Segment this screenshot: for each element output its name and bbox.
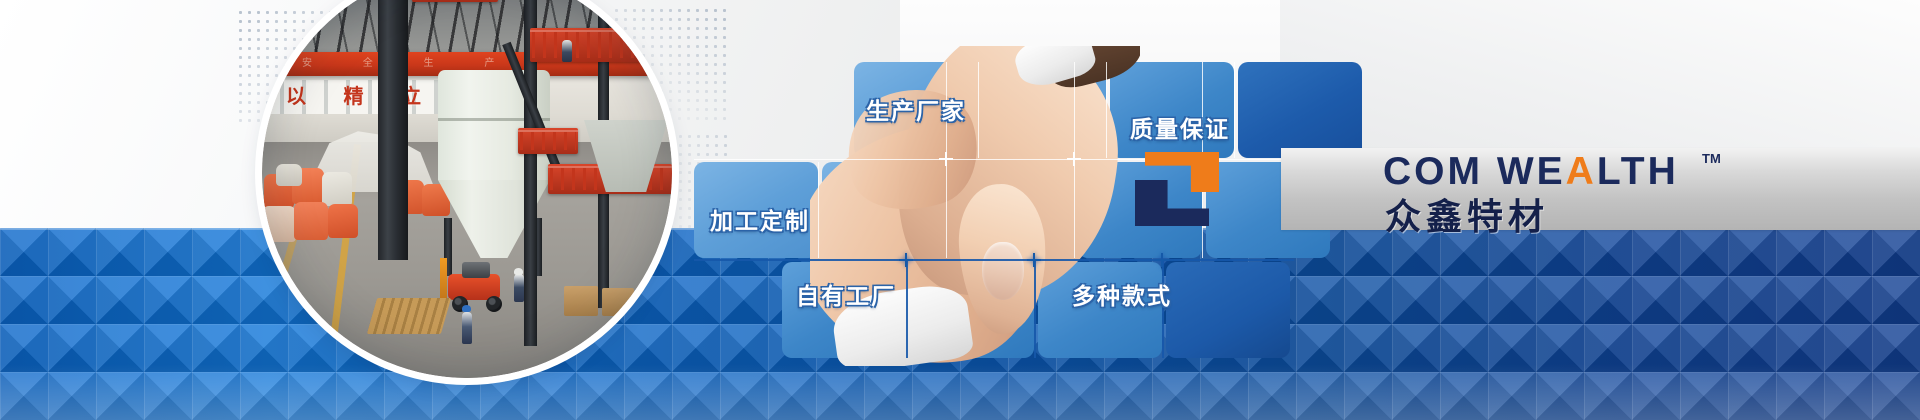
brand-en-highlight: A (1566, 150, 1597, 193)
tile-label-own-factory: 自有工厂 (796, 277, 896, 311)
tile-label-styles: 多种款式 (1072, 277, 1172, 311)
promo-banner: 以 精 立 业 安 全 生 产 (0, 0, 1920, 420)
com-wealth-z-mark-icon (1135, 152, 1227, 226)
tile-label-customization: 加工定制 (710, 202, 810, 236)
background-sheen-right (1280, 0, 1920, 148)
tile-label-quality: 质量保证 (1130, 110, 1230, 144)
factory-interior-photo: 以 精 立 业 安 全 生 产 (262, 0, 672, 378)
brand-en-part2: LTH (1597, 150, 1679, 193)
brand-en-part1: COM WE (1383, 150, 1566, 193)
factory-photo-circle: 以 精 立 业 安 全 生 产 (262, 0, 672, 378)
trademark-symbol: TM (1702, 151, 1721, 166)
handshake-photo (810, 46, 1140, 366)
grid-line-v7 (1234, 62, 1235, 158)
tile-label-manufacturer: 生产厂家 (866, 92, 966, 126)
brand-logo-bar: COM WEALTH TM 众鑫特材 (1281, 148, 1920, 230)
brand-name-chinese: 众鑫特材 (1385, 188, 1549, 240)
tile-quality[interactable] (1238, 62, 1362, 158)
tile-styles[interactable] (1166, 262, 1290, 358)
thumbnail (982, 242, 1024, 300)
